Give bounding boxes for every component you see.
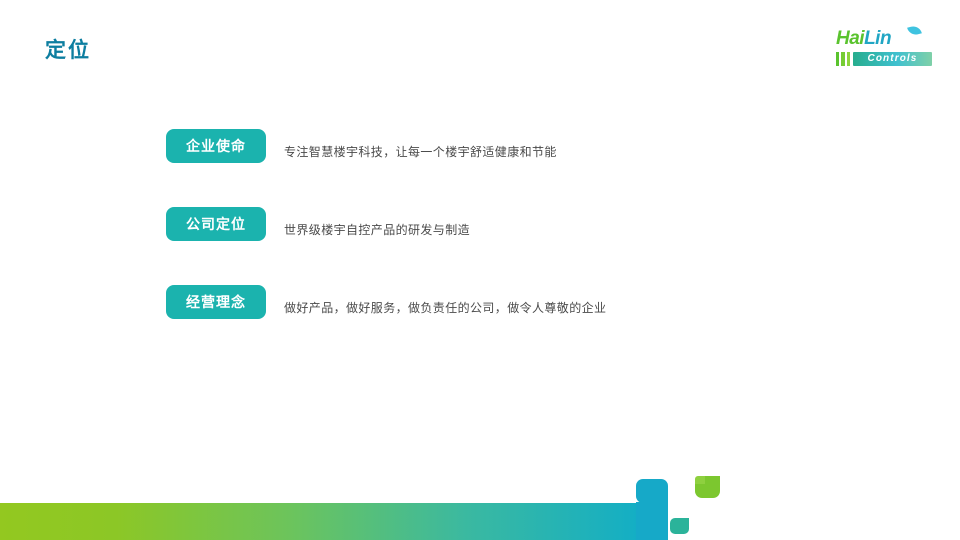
logo-bar-3	[847, 52, 850, 66]
logo-text-lin: Lin	[864, 28, 891, 49]
decoration-green-notch	[695, 476, 705, 484]
badge-philosophy: 经营理念	[166, 285, 266, 319]
decoration-teal-step	[636, 479, 668, 503]
list-item: 经营理念 做好产品，做好服务，做负责任的公司，做令人尊敬的企业	[166, 285, 866, 319]
row-text-positioning: 世界级楼宇自控产品的研发与制造	[284, 211, 470, 238]
leaf-icon	[907, 25, 922, 37]
slide-root: 定位 HaiLin Controls 企业使命 专注智慧楼宇科技，让每一个楼宇舒…	[0, 0, 960, 540]
badge-mission: 企业使命	[166, 129, 266, 163]
row-text-philosophy: 做好产品，做好服务，做负责任的公司，做令人尊敬的企业	[284, 289, 606, 316]
content-rows: 企业使命 专注智慧楼宇科技，让每一个楼宇舒适健康和节能 公司定位 世界级楼宇自控…	[166, 129, 866, 319]
decoration-teal-small-square	[670, 518, 689, 534]
row-text-mission: 专注智慧楼宇科技，让每一个楼宇舒适健康和节能	[284, 133, 557, 160]
logo-bars-icon	[836, 52, 853, 66]
logo-tagline-text: Controls	[853, 52, 932, 66]
decoration-teal-tail	[636, 502, 668, 540]
list-item: 企业使命 专注智慧楼宇科技，让每一个楼宇舒适健康和节能	[166, 129, 866, 163]
page-title: 定位	[45, 40, 91, 61]
logo-bar-1	[836, 52, 839, 66]
logo-tagline-bar: Controls	[836, 52, 932, 66]
hailin-controls-logo: HaiLin Controls	[836, 28, 932, 72]
logo-text-hai: Hai	[836, 28, 864, 49]
logo-wordmark: HaiLin	[836, 28, 932, 50]
list-item: 公司定位 世界级楼宇自控产品的研发与制造	[166, 207, 866, 241]
badge-positioning: 公司定位	[166, 207, 266, 241]
logo-bar-2	[841, 52, 844, 66]
footer-gradient-bar	[0, 503, 645, 540]
